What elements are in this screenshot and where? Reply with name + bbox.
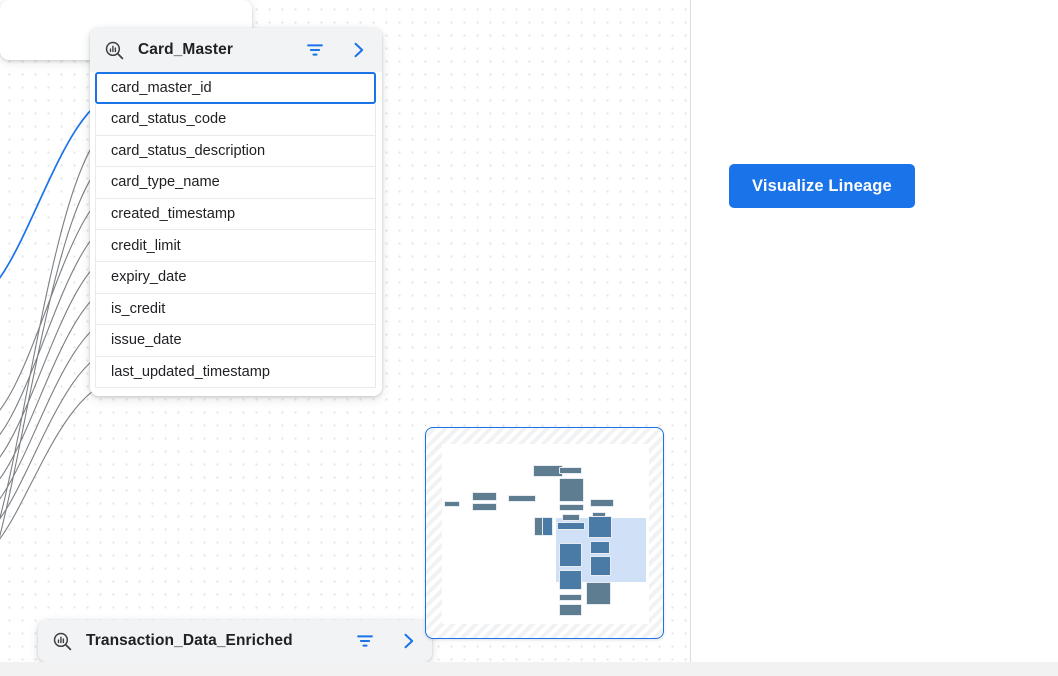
field-label: card_type_name [111,174,220,190]
field-row[interactable]: expiry_date [95,262,376,294]
right-panel: Visualize Lineage [691,0,1058,662]
minimap-node [559,570,582,590]
node-card-master[interactable]: Card_Master card_master_id ca [90,28,382,396]
field-label: card_status_description [111,143,265,159]
minimap-node [559,504,584,511]
field-row[interactable]: card_master_id [95,72,376,104]
field-row[interactable]: is_credit [95,294,376,326]
field-row[interactable]: card_type_name [95,167,376,199]
field-label: is_credit [111,301,165,317]
field-row[interactable]: card_status_description [95,136,376,168]
field-label: credit_limit [111,238,181,254]
visualize-lineage-button[interactable]: Visualize Lineage [729,164,915,208]
field-label: card_status_code [111,111,226,127]
field-row[interactable]: last_updated_timestamp [95,357,376,389]
minimap-node [542,517,553,536]
minimap-node [590,556,611,576]
minimap-node [472,503,497,511]
bottom-strip [0,662,1058,676]
field-row[interactable]: credit_limit [95,230,376,262]
minimap-canvas[interactable] [442,444,649,624]
node-title: Transaction_Data_Enriched [86,632,293,650]
minimap-node [559,543,582,567]
field-label: last_updated_timestamp [111,364,270,380]
minimap-node [559,478,584,502]
field-row[interactable]: card_status_code [95,104,376,136]
minimap-node [559,604,582,616]
search-chart-icon[interactable] [52,631,73,652]
minimap-node [590,541,610,554]
minimap-node [559,594,582,601]
graph-canvas[interactable]: Card_Master card_master_id ca [0,0,691,662]
field-row[interactable]: created_timestamp [95,199,376,231]
minimap-node [508,495,536,502]
minimap-node [586,582,611,605]
field-label: created_timestamp [111,206,235,222]
minimap-node [590,499,614,507]
lineage-graph-app: Card_Master card_master_id ca [0,0,1058,676]
filter-icon[interactable] [354,630,376,652]
chevron-right-icon[interactable] [348,40,368,60]
minimap-node [562,514,580,521]
filter-icon[interactable] [304,39,326,61]
minimap-node [588,516,612,538]
minimap-node [444,501,460,507]
minimap[interactable] [425,427,664,639]
minimap-node [557,522,585,530]
field-list: card_master_id card_status_code card_sta… [90,72,382,396]
field-label: expiry_date [111,269,186,285]
node-header[interactable]: Transaction_Data_Enriched [38,620,432,662]
field-row[interactable]: issue_date [95,325,376,357]
field-label: issue_date [111,332,182,348]
chevron-right-icon[interactable] [398,631,418,651]
node-title: Card_Master [138,41,233,59]
node-header[interactable]: Card_Master [90,28,382,72]
node-transaction-data-enriched[interactable]: Transaction_Data_Enriched [38,620,432,662]
field-label: card_master_id [111,80,212,96]
minimap-node [472,492,497,501]
minimap-node [559,467,582,474]
search-chart-icon[interactable] [104,40,125,61]
